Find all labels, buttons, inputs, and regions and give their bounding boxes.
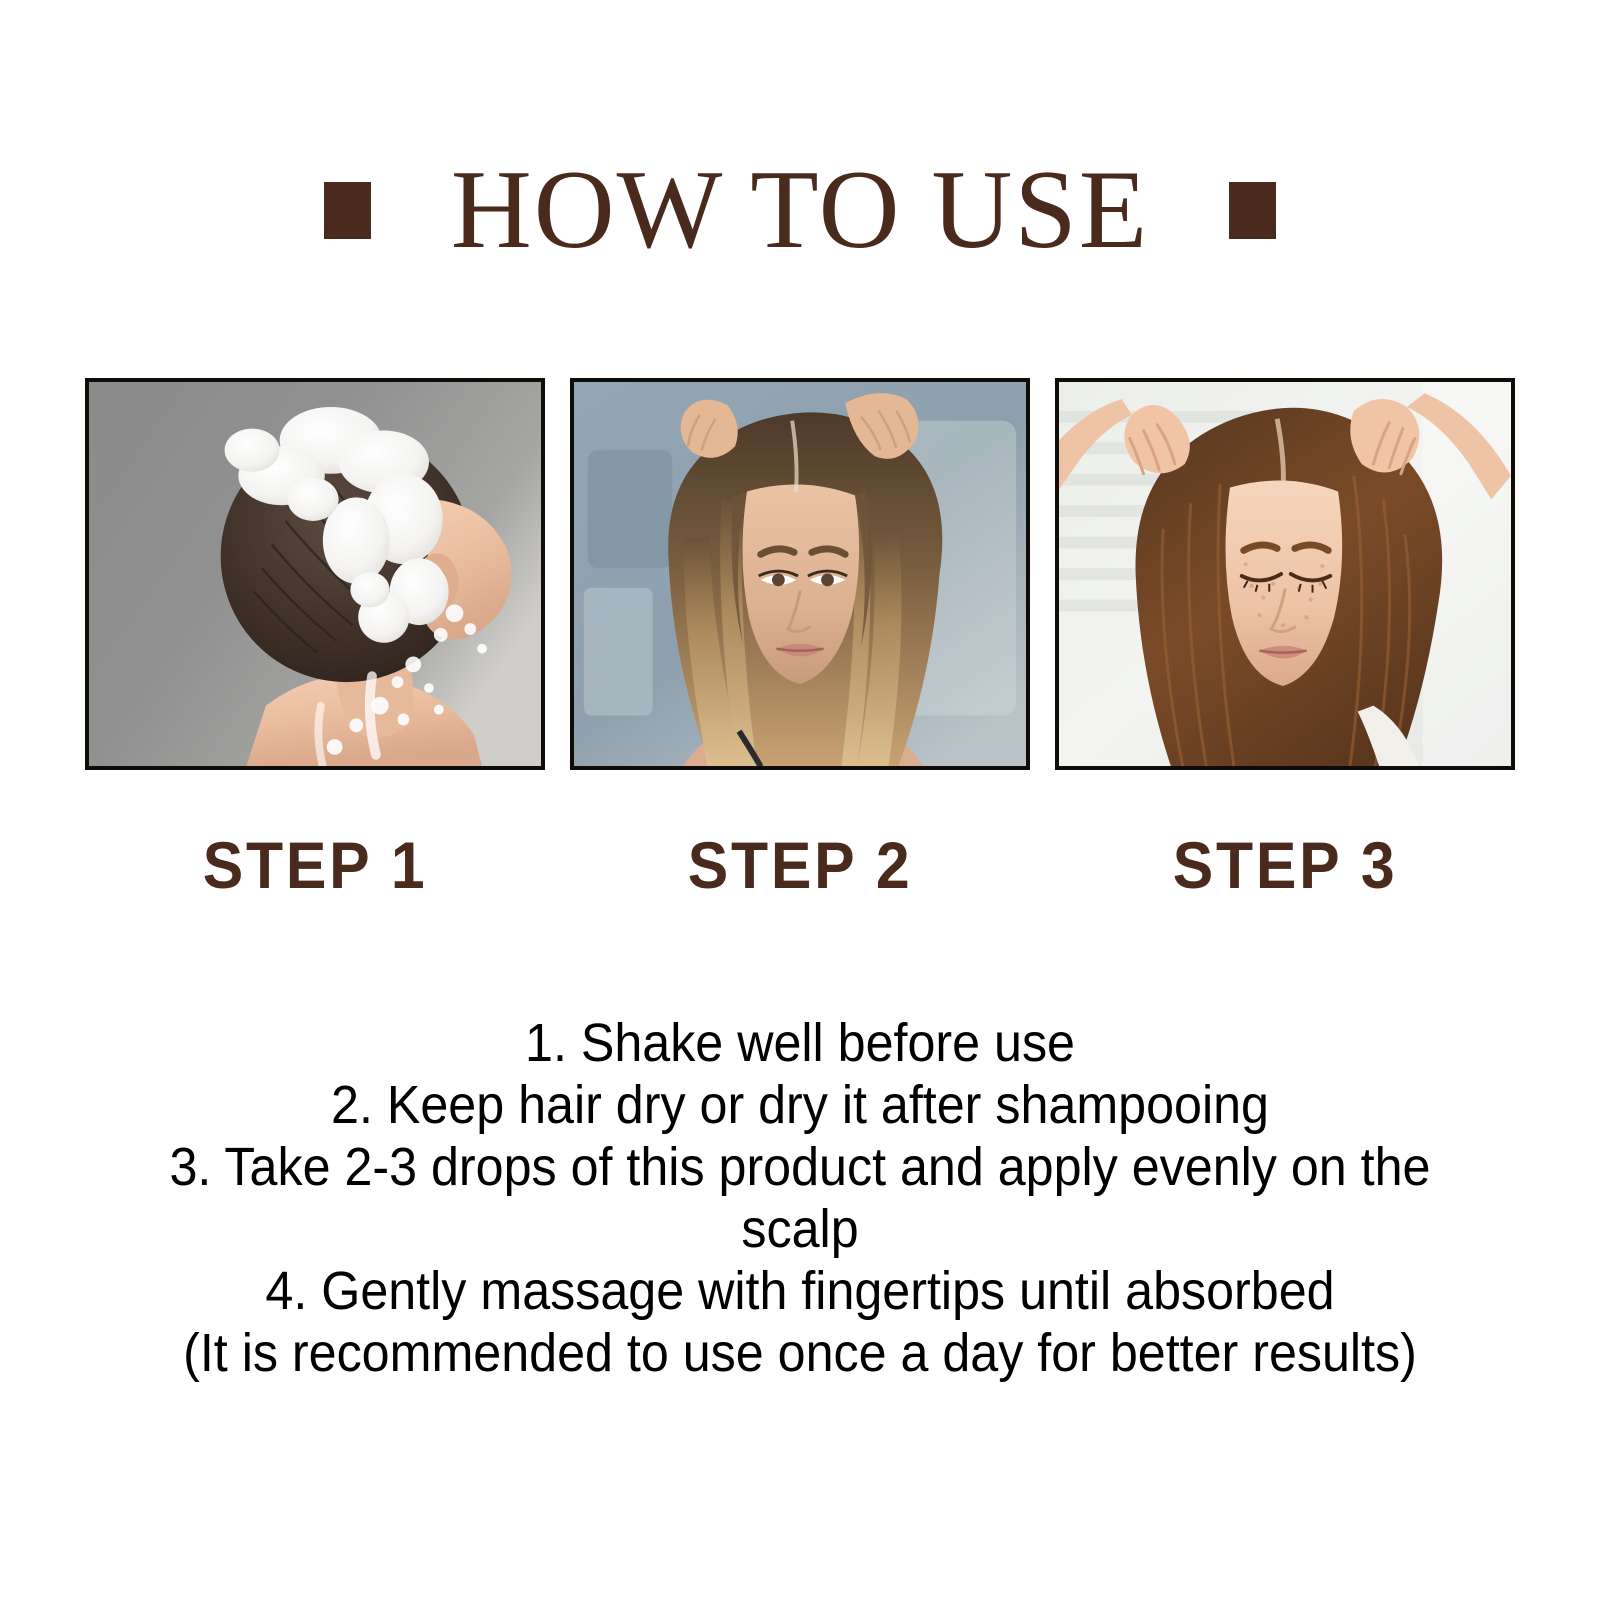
step-3-label: STEP 3 xyxy=(1173,832,1398,898)
instruction-line-2: 2. Keep hair dry or dry it after shampoo… xyxy=(112,1074,1488,1136)
instruction-line-3: 3. Take 2-3 drops of this product and ap… xyxy=(112,1136,1488,1260)
step-1-label: STEP 1 xyxy=(203,832,428,898)
step-2-photo xyxy=(570,378,1030,770)
instruction-line-5: (It is recommended to use once a day for… xyxy=(112,1322,1488,1384)
instruction-line-1: 1. Shake well before use xyxy=(112,1012,1488,1074)
step-column-3: STEP 3 xyxy=(1055,378,1515,898)
header: HOW TO USE xyxy=(0,150,1600,270)
instructions-block: 1. Shake well before use 2. Keep hair dr… xyxy=(60,1012,1540,1384)
scalp-massage-illustration xyxy=(1059,382,1511,766)
step-3-photo xyxy=(1055,378,1515,770)
steps-row: STEP 1 xyxy=(85,378,1515,898)
parting-hair-illustration xyxy=(574,382,1026,766)
step-1-photo xyxy=(85,378,545,770)
page-title: HOW TO USE xyxy=(451,154,1149,266)
instruction-line-4: 4. Gently massage with fingertips until … xyxy=(112,1260,1488,1322)
step-column-2: STEP 2 xyxy=(570,378,1030,898)
step-column-1: STEP 1 xyxy=(85,378,545,898)
how-to-use-infographic: HOW TO USE xyxy=(0,0,1600,1600)
shampoo-lather-illustration xyxy=(89,382,541,766)
square-decor-right-icon xyxy=(1229,182,1276,239)
step-2-label: STEP 2 xyxy=(688,832,913,898)
square-decor-left-icon xyxy=(324,182,371,239)
